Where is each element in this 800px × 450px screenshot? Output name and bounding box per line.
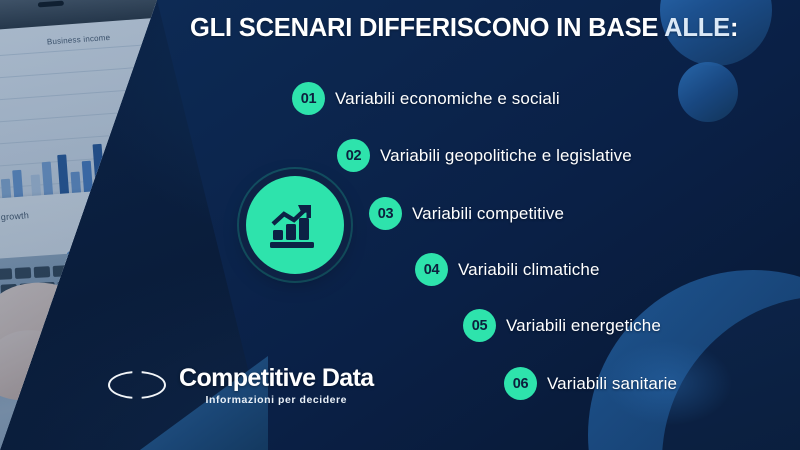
item-number-badge: 05 — [463, 309, 496, 342]
item-number-badge: 03 — [369, 197, 402, 230]
item-label: Variabili climatiche — [458, 260, 600, 280]
list-item[interactable]: 05 Variabili energetiche — [463, 309, 661, 342]
item-number-badge: 01 — [292, 82, 325, 115]
slide-canvas: Business income — [0, 0, 800, 450]
item-number-badge: 02 — [337, 139, 370, 172]
brand-logo: Competitive Data Informazioni per decide… — [108, 366, 374, 406]
ellipse-ring-mark-icon — [108, 369, 170, 403]
item-label: Variabili sanitarie — [547, 374, 677, 394]
item-label: Variabili economiche e sociali — [335, 89, 560, 109]
logo-name: Competitive Data — [179, 366, 374, 392]
item-label: Variabili energetiche — [506, 316, 661, 336]
logo-tagline: Informazioni per decidere — [179, 394, 374, 406]
item-number-badge: 06 — [504, 367, 537, 400]
list-item[interactable]: 06 Variabili sanitarie — [504, 367, 677, 400]
item-label: Variabili competitive — [412, 204, 564, 224]
list-item[interactable]: 02 Variabili geopolitiche e legislative — [337, 139, 632, 172]
list-item[interactable]: 01 Variabili economiche e sociali — [292, 82, 560, 115]
list-item[interactable]: 04 Variabili climatiche — [415, 253, 600, 286]
list-item[interactable]: 03 Variabili competitive — [369, 197, 564, 230]
item-label: Variabili geopolitiche e legislative — [380, 146, 632, 166]
item-number-badge: 04 — [415, 253, 448, 286]
